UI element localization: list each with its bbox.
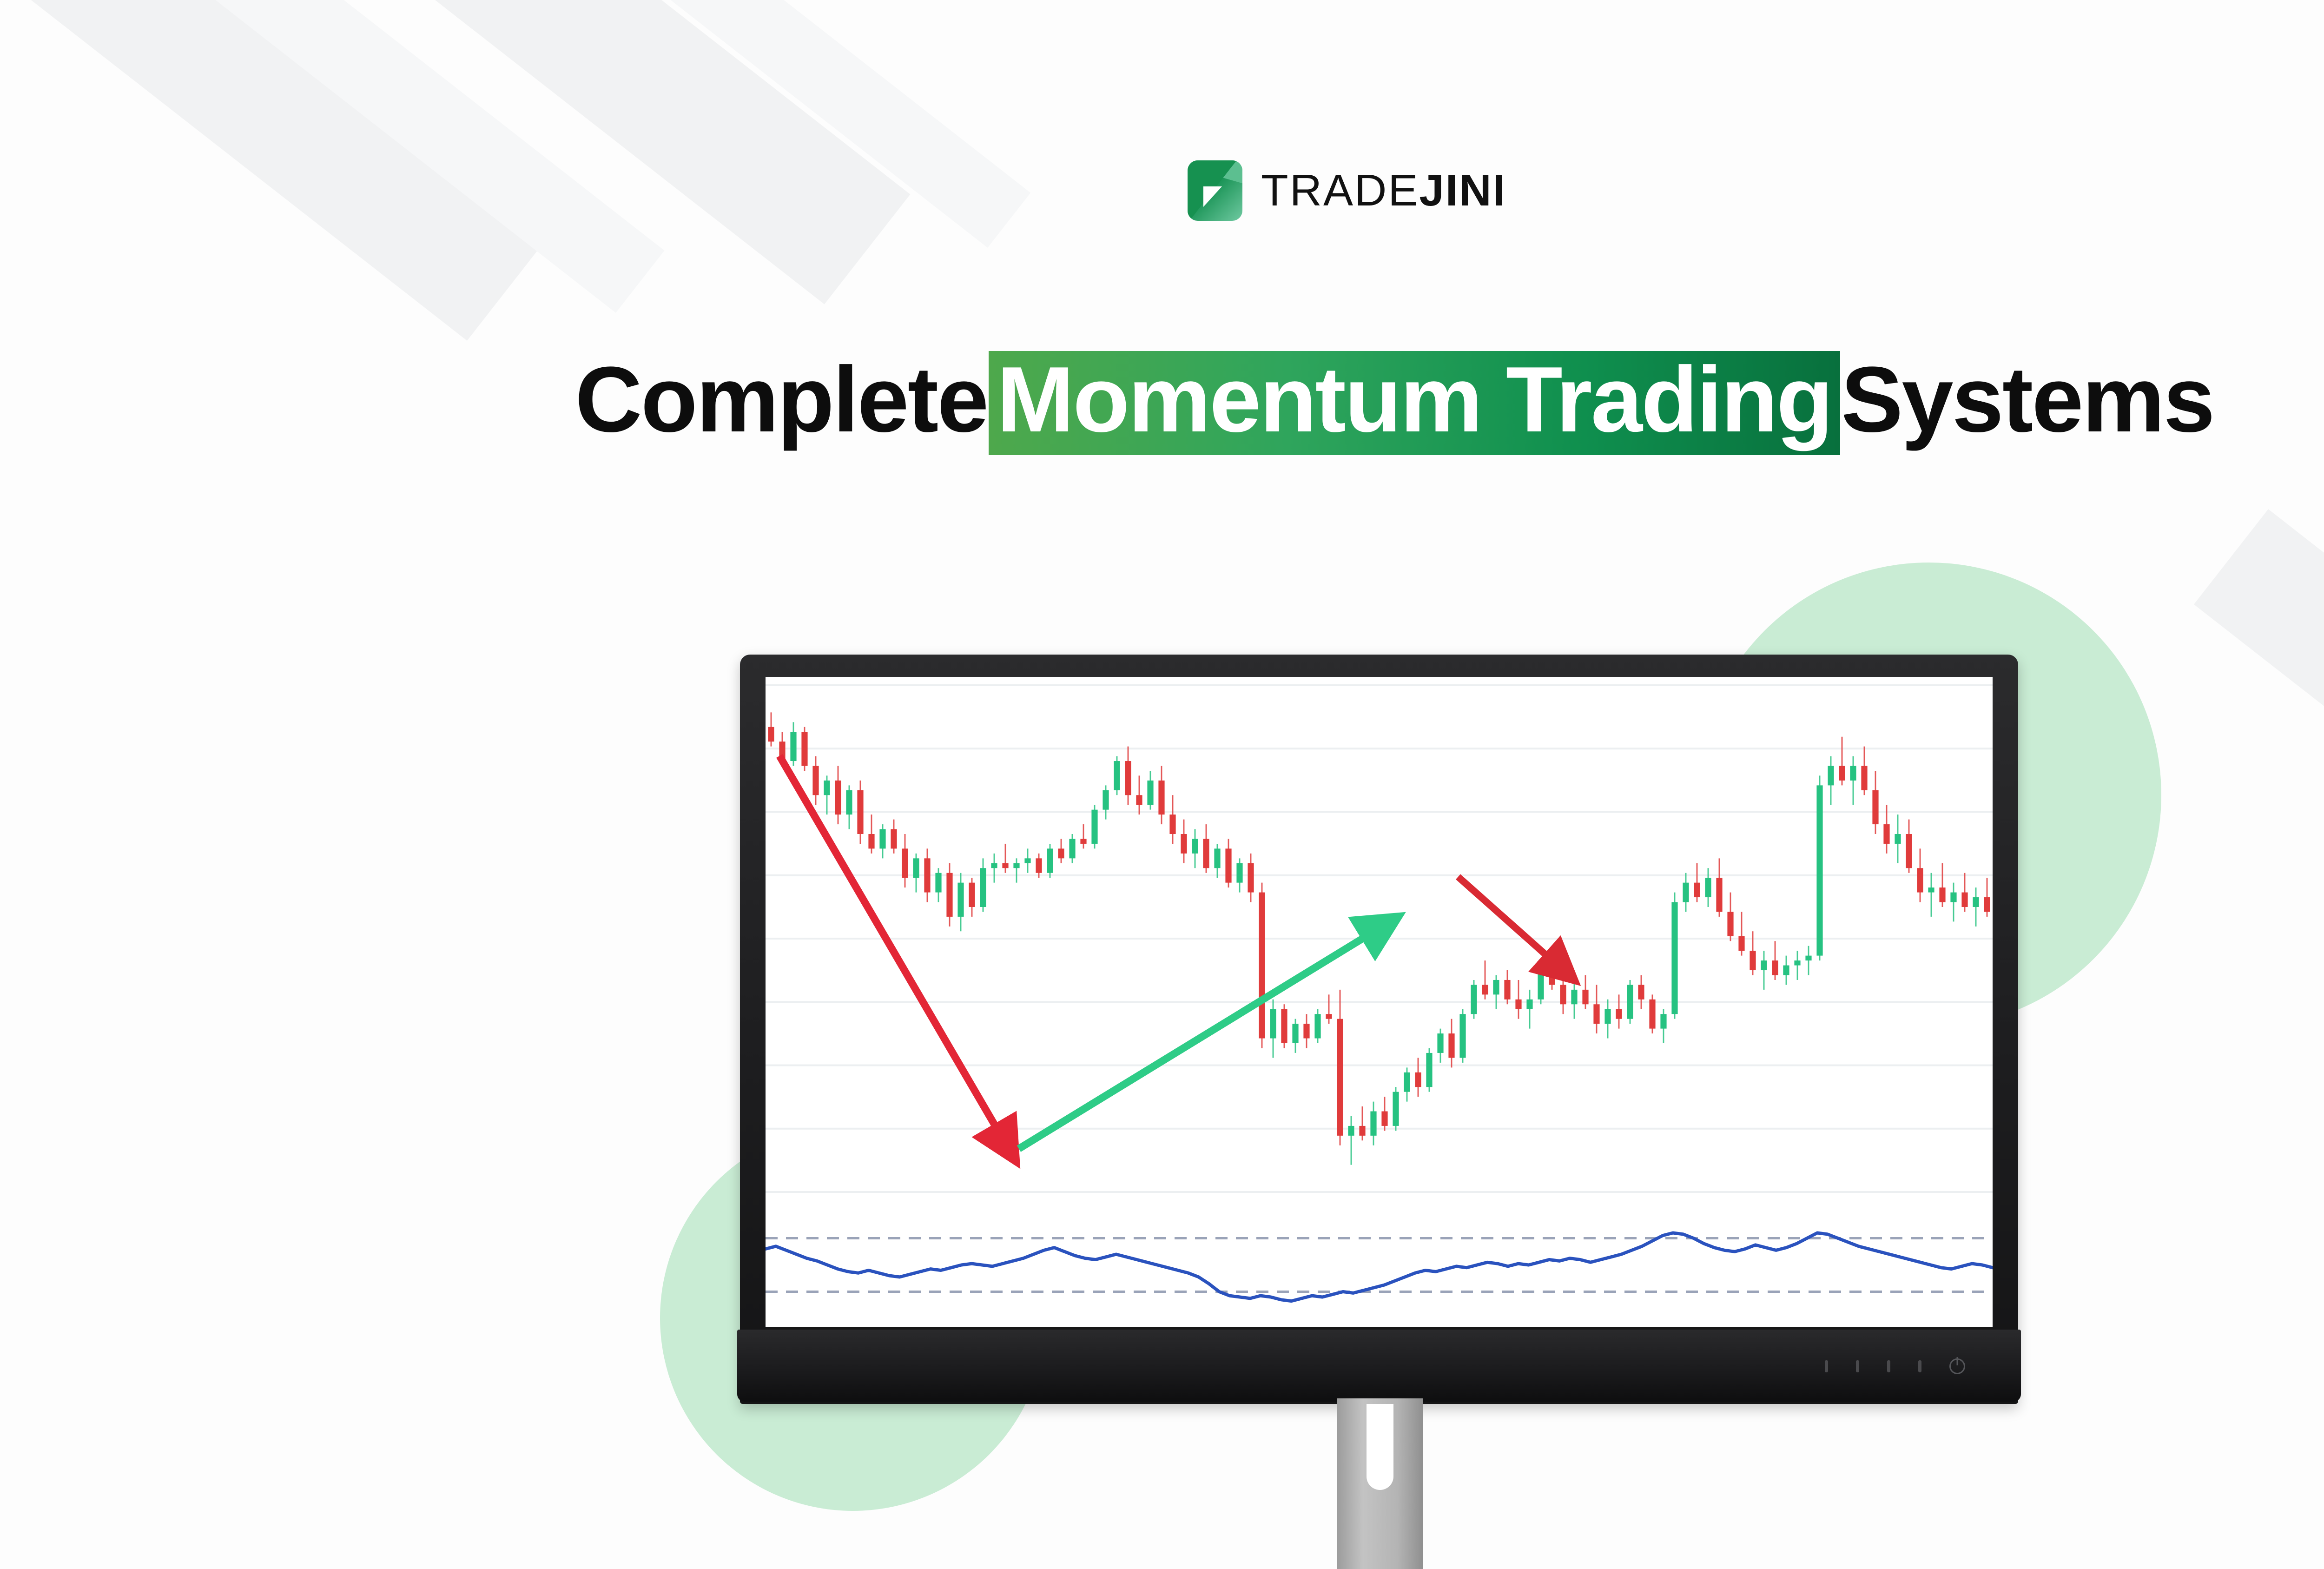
uptrend-arrow (1019, 926, 1384, 1149)
control-dot-icon (1918, 1360, 1921, 1372)
monitor-chin (737, 1330, 2021, 1402)
poster-canvas: TRADEJINI Part 3 CompleteMomentum Tradin… (0, 0, 2324, 1569)
headline-lead: Complete (575, 348, 987, 451)
page-title: CompleteMomentum TradingSystems (0, 344, 2324, 456)
pullback-arrow (1458, 877, 1563, 970)
brand-name-bold: JINI (1419, 166, 1506, 215)
brand-logo[interactable]: TRADEJINI (1188, 160, 1506, 221)
power-icon[interactable] (1949, 1358, 1965, 1374)
trading-chart (766, 677, 1993, 1327)
brand-name-light: TRADE (1261, 166, 1419, 215)
headline-highlight: Momentum Trading (989, 351, 1840, 455)
control-dot-icon (1856, 1360, 1859, 1372)
downtrend-arrow (779, 756, 1007, 1146)
monitor-screen (766, 677, 1993, 1327)
brand-wordmark: TRADEJINI (1261, 168, 1506, 213)
monitor-stand-slot (1367, 1404, 1393, 1490)
rsi-band-lines (766, 1238, 1993, 1292)
tradejini-cube-icon (1188, 160, 1242, 221)
price-gridlines (766, 685, 1993, 1192)
control-dot-icon (1887, 1360, 1890, 1372)
monitor-mockup (740, 655, 2018, 1417)
monitor-controls[interactable] (1825, 1358, 1965, 1374)
headline-trail: Systems (1841, 348, 2214, 451)
control-dot-icon (1825, 1360, 1828, 1372)
